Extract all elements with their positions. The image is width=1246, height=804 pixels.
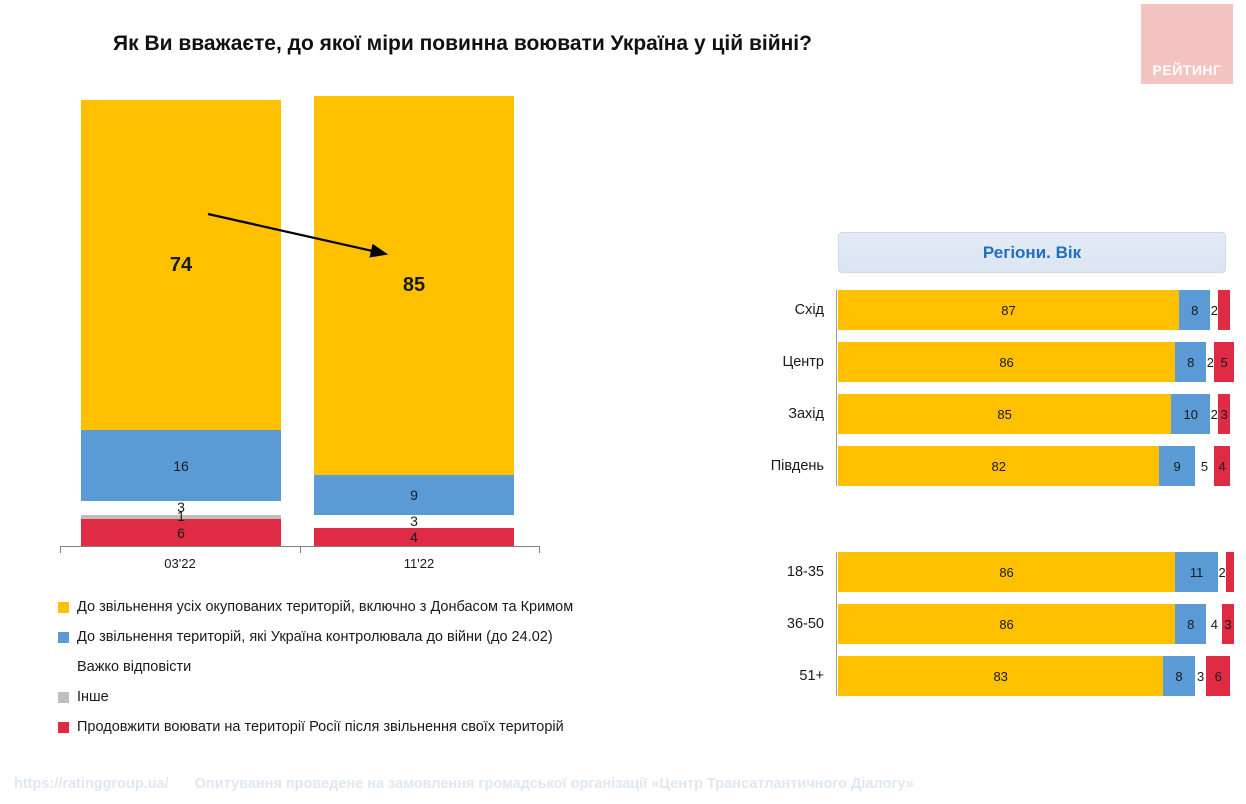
trend-stacked-column-chart: 741631685934 (60, 100, 540, 550)
bar-segment: 11 (1175, 552, 1218, 592)
legend: До звільнення усіх окупованих територій,… (58, 592, 738, 742)
bar-segment-value: 5 (1220, 356, 1227, 369)
bar-segment: 5 (1214, 342, 1234, 382)
bar-segment-value: 86 (999, 618, 1013, 631)
bar-row: Південь82954 (836, 446, 1236, 486)
bar-segment-value: 8 (1191, 304, 1198, 317)
bar-segment: 6 (1206, 656, 1230, 696)
bar-row-track: 86112 (838, 552, 1236, 592)
bar-segment: 5 (1195, 446, 1215, 486)
legend-swatch-icon (58, 602, 69, 613)
bar-row: Центр86825 (836, 342, 1236, 382)
bar-segment-value: 82 (991, 460, 1005, 473)
column-segment: 9 (314, 475, 514, 515)
column-segment-value: 9 (410, 488, 418, 502)
bar-row-category-label: 36-50 (787, 604, 824, 644)
bar-segment-value: 85 (997, 408, 1011, 421)
bar-row-track: 82954 (838, 446, 1236, 486)
footer-note: Опитування проведене на замовлення грома… (195, 776, 914, 792)
bar-segment-value: 8 (1187, 356, 1194, 369)
footer: https://ratinggroup.ua/ Опитування прове… (0, 772, 1246, 796)
bar-segment-value: 86 (999, 566, 1013, 579)
bar-segment: 86 (838, 552, 1175, 592)
bar-row-category-label: Захід (788, 394, 824, 434)
legend-swatch-icon (58, 662, 69, 673)
bar-segment-value: 87 (1001, 304, 1015, 317)
bar-segment-value: 4 (1219, 460, 1226, 473)
stacked-column-03'22: 7416316 (81, 100, 281, 546)
bar-row: 18-3586112 (836, 552, 1236, 592)
bar-row-track: 8782 (838, 290, 1236, 330)
bar-segment: 82 (838, 446, 1159, 486)
bar-segment: 3 (1218, 394, 1230, 434)
column-segment: 16 (81, 430, 281, 501)
x-axis-label-0: 03'22 (120, 556, 240, 571)
left-chart-plot-area: 741631685934 (60, 100, 540, 548)
bar-segment: 8 (1163, 656, 1194, 696)
column-segment-value: 85 (403, 275, 425, 295)
footer-url[interactable]: https://ratinggroup.ua/ (14, 776, 169, 792)
legend-swatch-icon (58, 722, 69, 733)
bar-segment: 8 (1175, 604, 1206, 644)
bar-row-category-label: Південь (771, 446, 824, 486)
column-segment-value: 16 (173, 459, 189, 473)
bar-segment-value: 8 (1187, 618, 1194, 631)
bar-segment-value: 2 (1211, 304, 1218, 317)
bar-segment-value: 6 (1215, 670, 1222, 683)
bar-segment: 8 (1175, 342, 1206, 382)
legend-label: Важко відповісти (77, 659, 191, 675)
x-axis-label-1: 11'22 (359, 556, 479, 571)
bar-segment (1226, 552, 1234, 592)
bar-segment: 10 (1171, 394, 1210, 434)
bar-segment-value: 86 (999, 356, 1013, 369)
bar-segment-value: 3 (1197, 670, 1204, 683)
column-segment-value: 74 (170, 255, 192, 275)
bar-segment-value: 8 (1175, 670, 1182, 683)
legend-item: Важко відповісти (58, 652, 738, 682)
bar-segment: 2 (1206, 342, 1214, 382)
column-segment-value: 6 (177, 526, 185, 540)
bar-segment-value: 3 (1224, 618, 1231, 631)
bar-row-category-label: Центр (782, 342, 824, 382)
bar-segment-value: 10 (1184, 408, 1198, 421)
logo-text: РЕЙТИНГ (1153, 62, 1222, 78)
bar-row-track: 83836 (838, 656, 1236, 696)
bar-row-track: 86843 (838, 604, 1236, 644)
bar-segment-value: 2 (1211, 408, 1218, 421)
bar-row-track: 86825 (838, 342, 1236, 382)
bar-segment-value: 2 (1219, 566, 1226, 579)
regions-age-panel-title: Регіони. Вік (983, 243, 1081, 263)
column-segment-value: 1 (177, 509, 185, 523)
bar-row-category-label: Схід (795, 290, 824, 330)
bar-segment (1218, 290, 1230, 330)
regions-age-stacked-bar-chart: Схід8782Центр86825Захід851023Південь8295… (836, 290, 1236, 720)
axis-tick (60, 546, 61, 553)
bar-segment: 3 (1222, 604, 1234, 644)
bar-segment: 86 (838, 604, 1175, 644)
bar-segment: 2 (1210, 290, 1218, 330)
bar-segment-value: 2 (1207, 356, 1214, 369)
bar-segment: 4 (1206, 604, 1222, 644)
legend-item: До звільнення територій, які Україна кон… (58, 622, 738, 652)
legend-label: Продовжити воювати на території Росії пі… (77, 719, 564, 735)
bar-segment-value: 83 (993, 670, 1007, 683)
axis-tick (539, 546, 540, 553)
legend-item: До звільнення усіх окупованих територій,… (58, 592, 738, 622)
legend-swatch-icon (58, 692, 69, 703)
bar-segment-value: 3 (1220, 408, 1227, 421)
legend-swatch-icon (58, 632, 69, 643)
bar-row: 51+83836 (836, 656, 1236, 696)
axis-tick (300, 546, 301, 553)
column-segment-value: 3 (410, 514, 418, 528)
bar-row-track: 851023 (838, 394, 1236, 434)
bar-row-category-label: 51+ (799, 656, 824, 696)
bar-segment-value: 11 (1190, 566, 1204, 579)
bar-row: Захід851023 (836, 394, 1236, 434)
bar-segment: 2 (1210, 394, 1218, 434)
bar-row: Схід8782 (836, 290, 1236, 330)
legend-label: До звільнення усіх окупованих територій,… (77, 599, 573, 615)
bar-segment: 3 (1195, 656, 1207, 696)
regions-age-panel-header: Регіони. Вік (838, 232, 1226, 273)
legend-label: Інше (77, 689, 109, 705)
bar-segment: 83 (838, 656, 1163, 696)
legend-item: Інше (58, 682, 738, 712)
bar-segment: 9 (1159, 446, 1194, 486)
bar-segment-value: 4 (1211, 618, 1218, 631)
bar-segment: 86 (838, 342, 1175, 382)
rating-group-logo: РЕЙТИНГ (1141, 4, 1233, 84)
column-segment: 4 (314, 528, 514, 546)
bar-segment: 2 (1218, 552, 1226, 592)
column-segment-value: 4 (410, 530, 418, 544)
bar-segment-value: 5 (1201, 460, 1208, 473)
bar-segment: 87 (838, 290, 1179, 330)
bar-segment: 8 (1179, 290, 1210, 330)
bar-segment: 4 (1214, 446, 1230, 486)
column-segment: 3 (314, 515, 514, 528)
legend-item: Продовжити воювати на території Росії пі… (58, 712, 738, 742)
bar-segment-value: 9 (1173, 460, 1180, 473)
stacked-column-11'22: 85934 (314, 96, 514, 546)
column-segment: 85 (314, 96, 514, 475)
bar-row: 36-5086843 (836, 604, 1236, 644)
bar-segment: 85 (838, 394, 1171, 434)
bar-row-category-label: 18-35 (787, 552, 824, 592)
page-title: Як Ви вважаєте, до якої міри повинна вою… (113, 32, 812, 56)
column-segment: 74 (81, 100, 281, 430)
legend-label: До звільнення територій, які Україна кон… (77, 629, 553, 645)
